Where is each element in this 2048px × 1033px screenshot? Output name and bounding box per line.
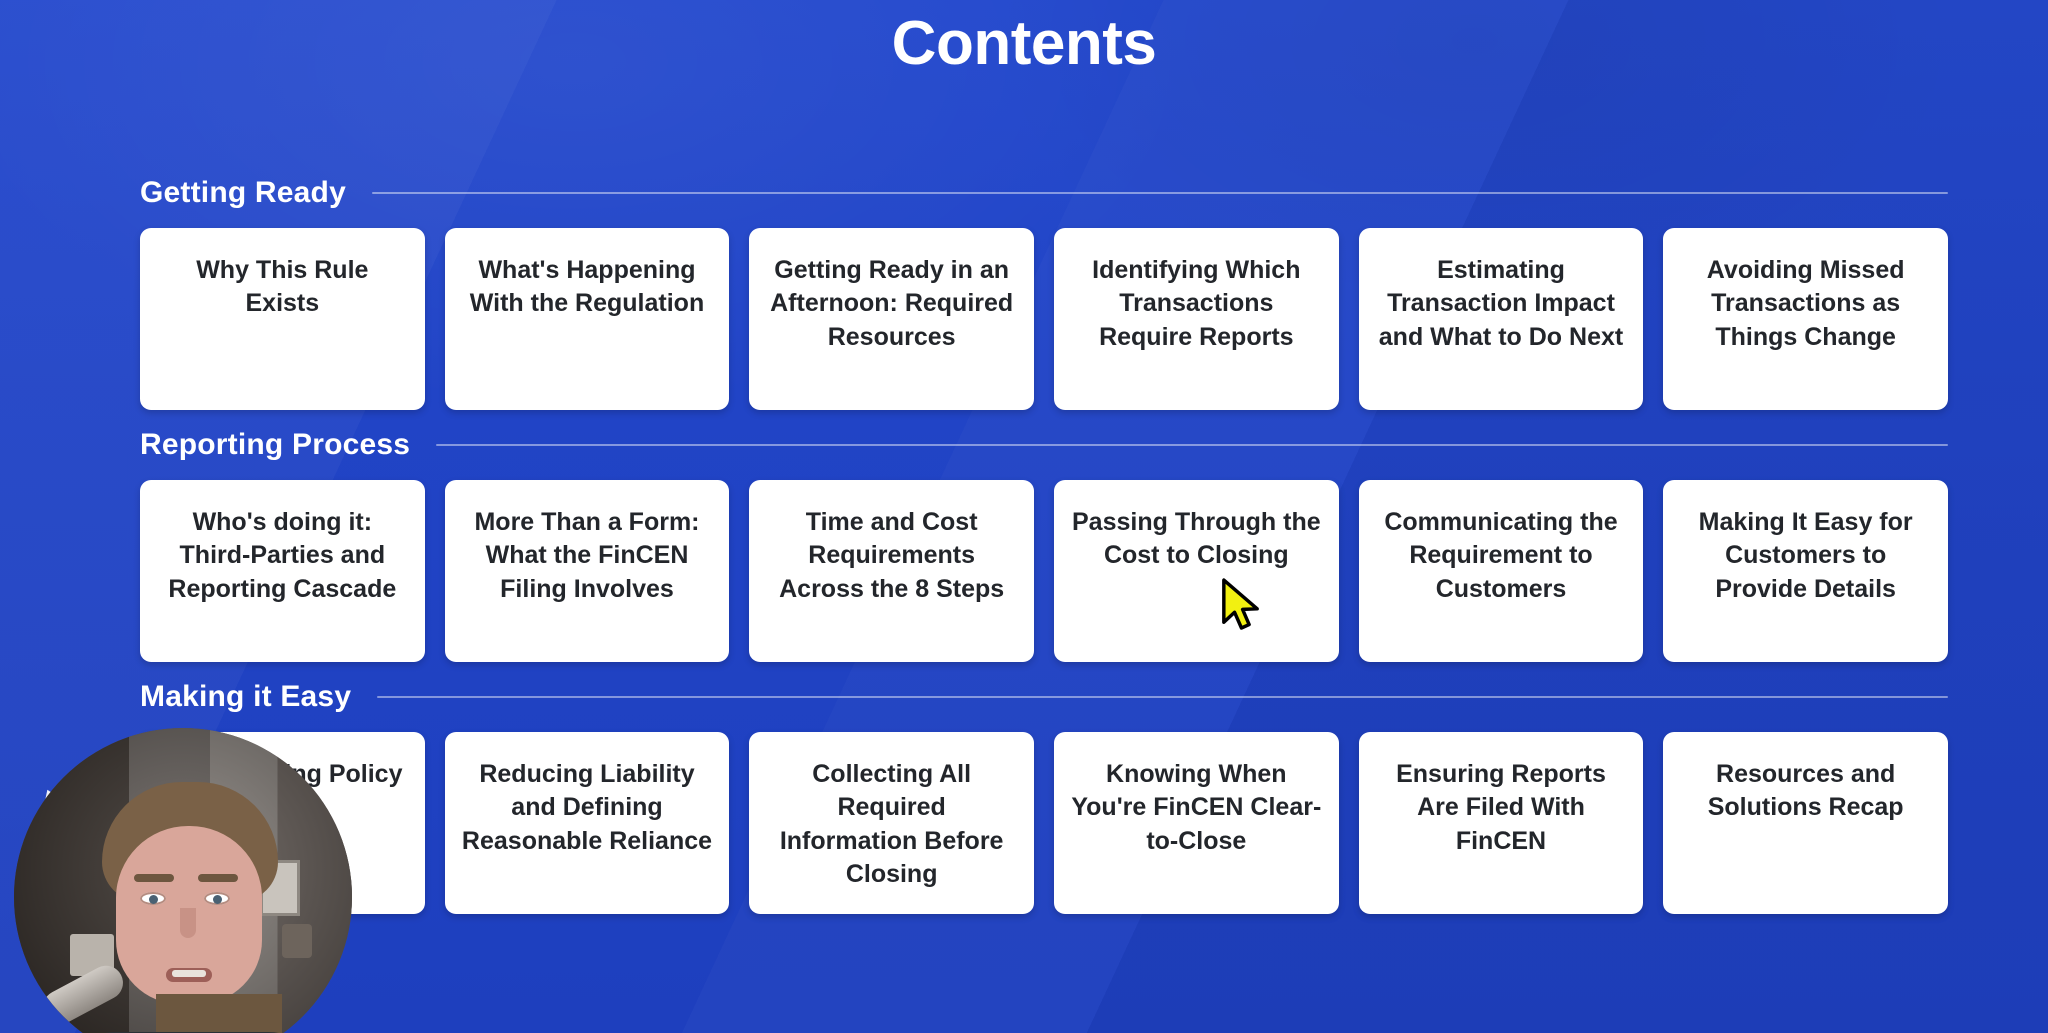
- content-card[interactable]: Estimating Transaction Impact and What t…: [1359, 228, 1644, 410]
- content-card[interactable]: Ensuring Reports Are Filed With FinCEN: [1359, 732, 1644, 914]
- content-card[interactable]: Getting Ready in an Afternoon: Required …: [749, 228, 1034, 410]
- content-card[interactable]: More Than a Form: What the FinCEN Filing…: [445, 480, 730, 662]
- section-header: Reporting Process: [140, 420, 1948, 470]
- section-divider: [436, 444, 1948, 446]
- section-getting-ready: Getting Ready Why This Rule Exists What'…: [140, 168, 1948, 410]
- card-row-reporting-process: Who's doing it: Third-Parties and Report…: [140, 480, 1948, 662]
- webcam-video-bubble[interactable]: [14, 728, 352, 1033]
- section-title-making-it-easy: Making it Easy: [140, 680, 351, 714]
- section-divider: [377, 696, 1948, 698]
- content-card[interactable]: Resources and Solutions Recap: [1663, 732, 1948, 914]
- presenter-beard: [156, 994, 282, 1033]
- content-card[interactable]: Who's doing it: Third-Parties and Report…: [140, 480, 425, 662]
- section-header: Getting Ready: [140, 168, 1948, 218]
- section-divider: [372, 192, 1948, 194]
- content-card[interactable]: Collecting All Required Information Befo…: [749, 732, 1034, 914]
- presenter-nose: [180, 908, 196, 938]
- presenter-mouth: [166, 968, 212, 982]
- card-row-making-it-easy: Staff Training Policy Reducing Liability…: [140, 732, 1948, 914]
- webcam-presenter: [86, 782, 292, 1033]
- presenter-eye-left: [140, 892, 166, 905]
- presenter-eye-right: [204, 892, 230, 905]
- presentation-slide: Contents Getting Ready Why This Rule Exi…: [0, 0, 2048, 1033]
- content-card[interactable]: Why This Rule Exists: [140, 228, 425, 410]
- content-card[interactable]: Communicating the Requirement to Custome…: [1359, 480, 1644, 662]
- content-card[interactable]: Passing Through the Cost to Closing: [1054, 480, 1339, 662]
- content-card[interactable]: Reducing Liability and Defining Reasonab…: [445, 732, 730, 914]
- presenter-pupil-left: [149, 895, 158, 904]
- section-reporting-process: Reporting Process Who's doing it: Third-…: [140, 420, 1948, 662]
- card-row-getting-ready: Why This Rule Exists What's Happening Wi…: [140, 228, 1948, 410]
- page-title: Contents: [0, 8, 2048, 79]
- contents-grid: Getting Ready Why This Rule Exists What'…: [140, 168, 1948, 924]
- section-header: Making it Easy: [140, 672, 1948, 722]
- presenter-teeth: [172, 970, 206, 977]
- content-card[interactable]: Avoiding Missed Transactions as Things C…: [1663, 228, 1948, 410]
- content-card[interactable]: Making It Easy for Customers to Provide …: [1663, 480, 1948, 662]
- section-title-getting-ready: Getting Ready: [140, 176, 346, 210]
- content-card[interactable]: Knowing When You're FinCEN Clear-to-Clos…: [1054, 732, 1339, 914]
- presenter-eyebrow-right: [198, 874, 238, 882]
- content-card[interactable]: Identifying Which Transactions Require R…: [1054, 228, 1339, 410]
- presenter-eyebrow-left: [134, 874, 174, 882]
- presenter-pupil-right: [213, 895, 222, 904]
- section-making-it-easy: Making it Easy Staff Training Policy Red…: [140, 672, 1948, 914]
- content-card[interactable]: Time and Cost Requirements Across the 8 …: [749, 480, 1034, 662]
- content-card[interactable]: What's Happening With the Regulation: [445, 228, 730, 410]
- section-title-reporting-process: Reporting Process: [140, 428, 410, 462]
